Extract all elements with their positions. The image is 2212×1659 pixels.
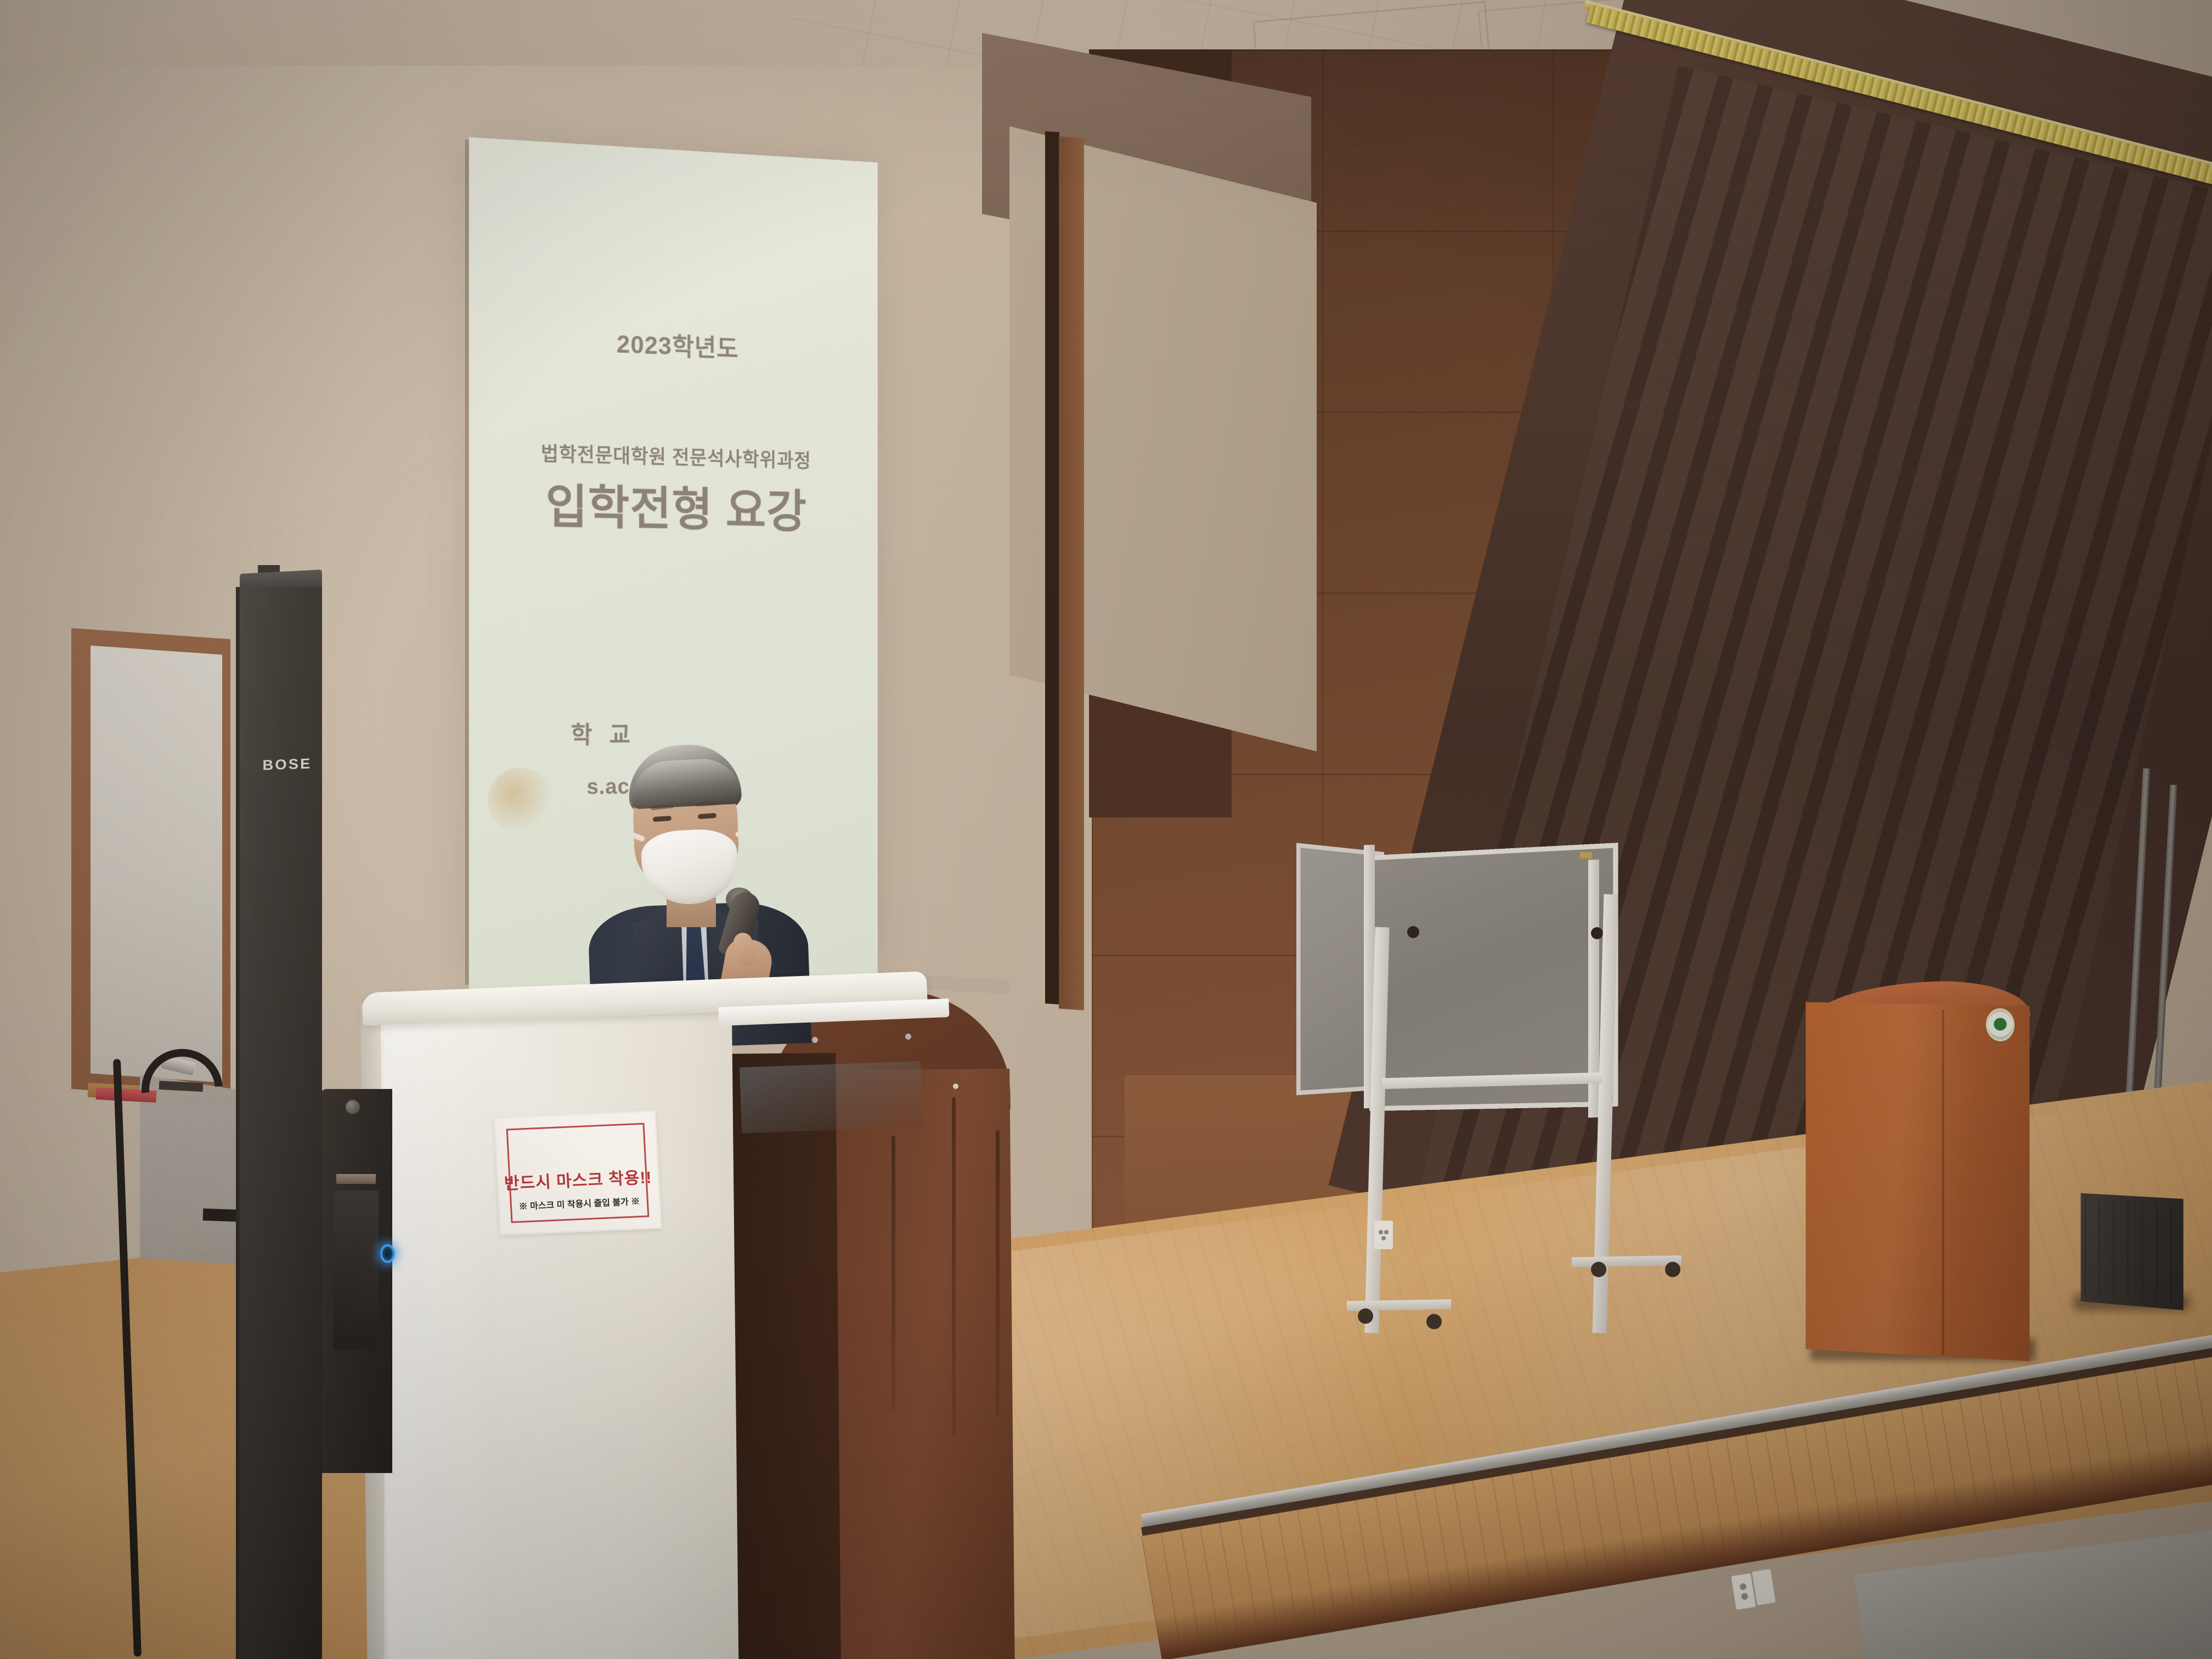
screen-right-wood-trim <box>1059 136 1084 1010</box>
tower-speaker-bose <box>240 586 322 1659</box>
lectern-screw <box>953 1084 958 1089</box>
speaker-grille <box>2085 1198 2178 1304</box>
whiteboard-caster <box>1426 1314 1442 1329</box>
whiteboard-foot <box>1572 1255 1681 1267</box>
sign-subline: ※ 마스크 미 착용시 출입 불가 ※ <box>518 1194 640 1212</box>
stage-switch-plate[interactable] <box>1752 1569 1775 1606</box>
whiteboard-badge <box>1580 852 1592 859</box>
whiteboard-pivot-knob[interactable] <box>1591 927 1603 939</box>
lectern-groove <box>891 1136 895 1410</box>
whiteboard-caster <box>1591 1262 1606 1277</box>
lectern-groove <box>996 1130 1000 1415</box>
slide-title-line: 입학전형 요강 <box>469 466 878 542</box>
screen-right-dark-border <box>1045 131 1059 1005</box>
amplifier-knob[interactable] <box>346 1100 360 1114</box>
dark-lectern-side <box>731 1053 841 1659</box>
amplifier-slot <box>336 1174 376 1184</box>
whiteboard-pivot-knob[interactable] <box>1407 926 1419 938</box>
wooden-lectern-body[interactable] <box>1806 1002 2030 1361</box>
wall-panel-surface <box>91 646 222 1083</box>
lectern-top-shadow <box>740 1061 923 1133</box>
whiteboard-caster <box>1665 1262 1680 1277</box>
sign-headline: 반드시 마스크 착용!! <box>504 1164 653 1194</box>
mask-required-sign: 반드시 마스크 착용!! ※ 마스크 미 착용시 출입 불가 ※ <box>493 1110 662 1236</box>
whiteboard-caster <box>1358 1308 1373 1324</box>
podium-screw <box>905 1034 911 1040</box>
podium-screw <box>812 1037 818 1043</box>
whiteboard-surface[interactable] <box>1369 843 1618 1111</box>
bose-logo: BOSE <box>260 755 315 771</box>
lectern-panel-seam <box>1942 1009 1944 1355</box>
wall-outlet-sockets <box>1378 1229 1389 1241</box>
lectern-groove <box>952 1097 956 1437</box>
auditorium-scene: 2023학년도 법학전문대학원 전문석사학위과정 입학전형 요강 학 교 s.a… <box>0 0 2212 1659</box>
power-led-indicator <box>380 1244 395 1263</box>
amplifier-front-panel <box>334 1190 379 1350</box>
sign-border: 반드시 마스크 착용!! ※ 마스크 미 착용시 출입 불가 ※ <box>506 1123 650 1223</box>
podium-highlight <box>384 1015 494 1659</box>
